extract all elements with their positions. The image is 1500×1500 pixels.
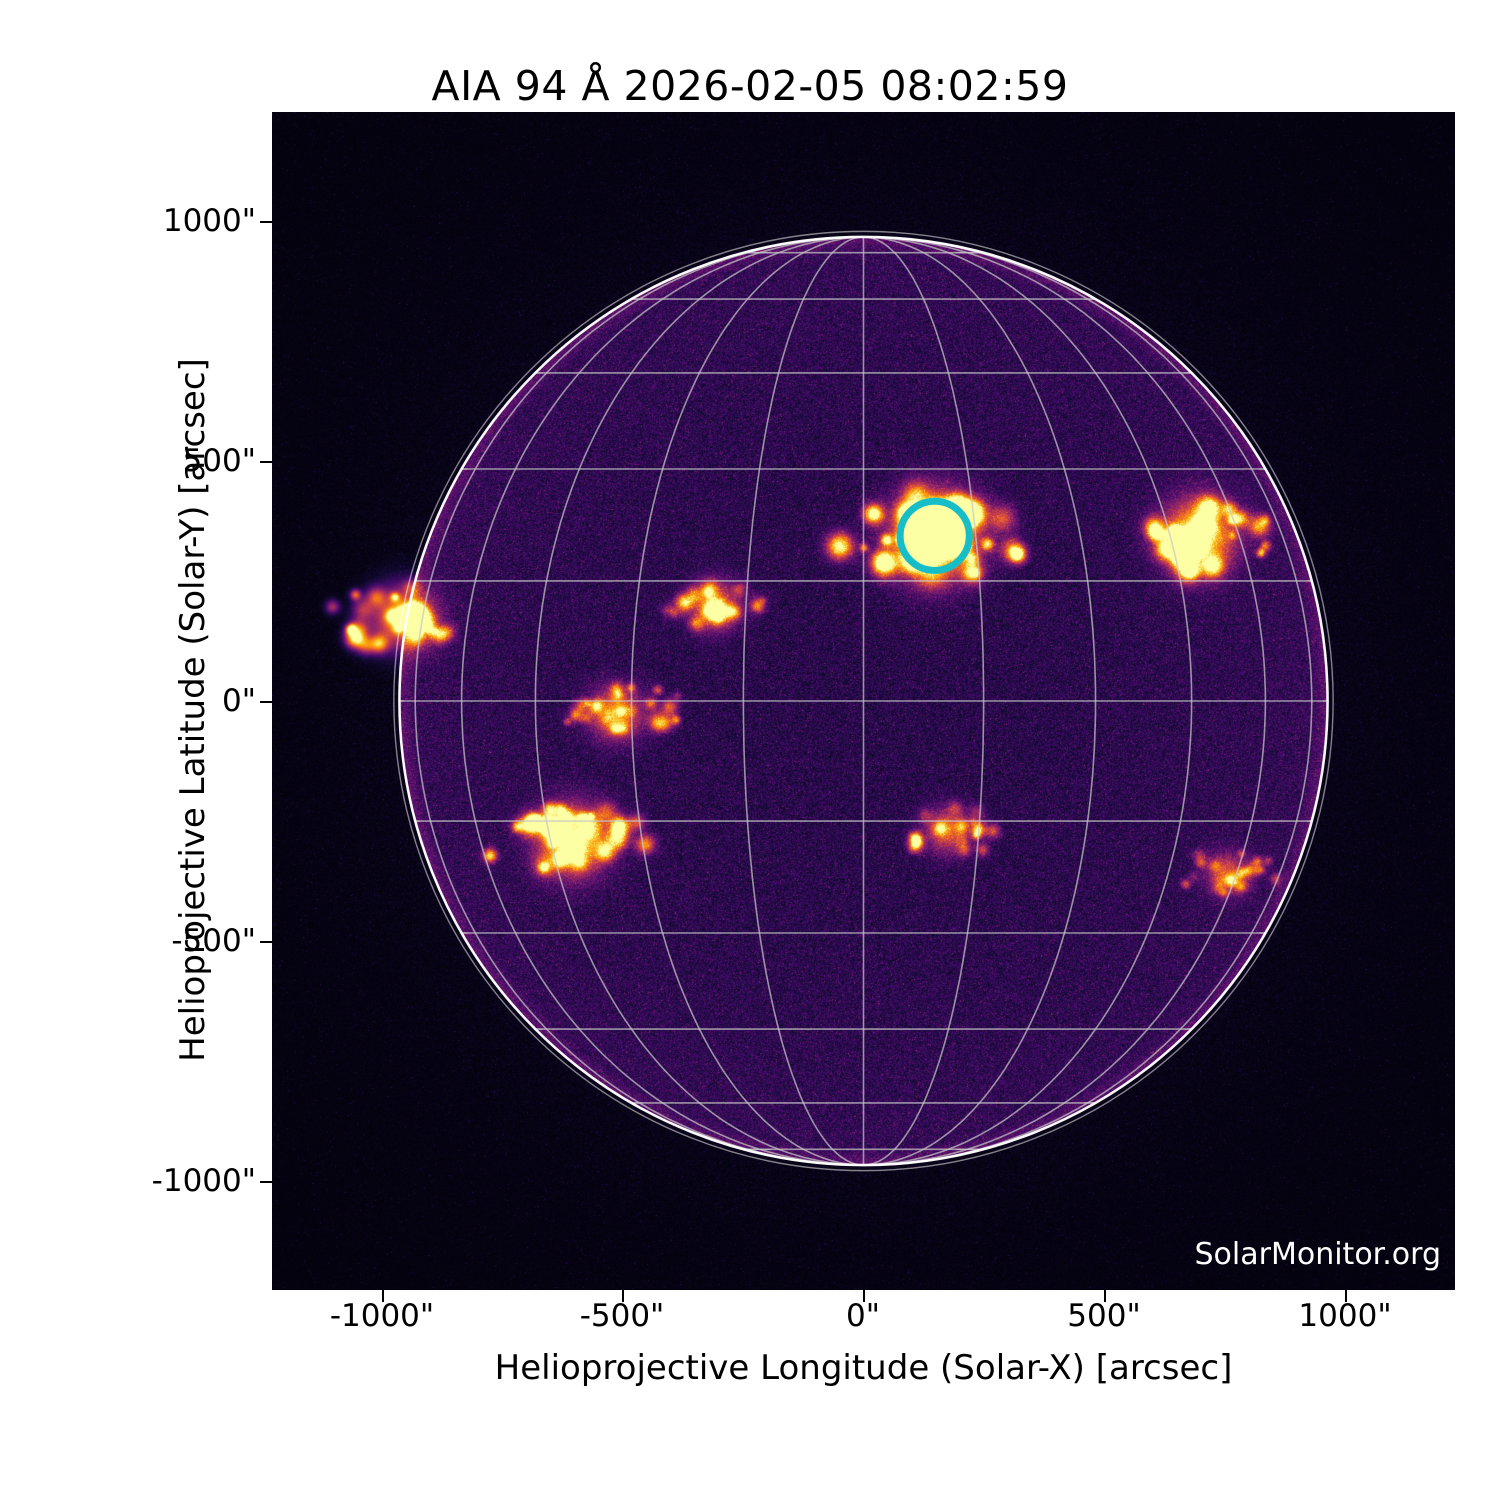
xtick-label: 500"	[1067, 1298, 1140, 1334]
heliographic-grid-overlay	[272, 112, 1455, 1290]
ytick-mark	[260, 221, 272, 223]
ytick-mark	[260, 941, 272, 943]
ytick-label: 0"	[222, 683, 256, 719]
page-title: AIA 94 Å 2026-02-05 08:02:59	[0, 62, 1500, 110]
xtick-label: -1000"	[330, 1298, 434, 1334]
xtick-label: -500"	[580, 1298, 665, 1334]
ytick-mark	[260, 1181, 272, 1183]
ytick-mark	[260, 701, 272, 703]
y-axis-label: Helioprojective Latitude (Solar-Y) [arcs…	[173, 121, 213, 1299]
solar-image-figure: AIA 94 Å 2026-02-05 08:02:59 SolarMonito…	[0, 0, 1500, 1500]
solarmonitor-watermark: SolarMonitor.org	[1195, 1237, 1441, 1272]
solar-image-plot-area[interactable]: SolarMonitor.org	[272, 112, 1455, 1290]
xtick-label: 1000"	[1298, 1298, 1391, 1334]
grid-lines	[399, 237, 1327, 1165]
ytick-mark	[260, 461, 272, 463]
xtick-label: 0"	[846, 1298, 880, 1334]
x-axis-label: Helioprojective Longitude (Solar-X) [arc…	[272, 1348, 1455, 1388]
active-region-circle-annotation[interactable]	[900, 501, 969, 570]
